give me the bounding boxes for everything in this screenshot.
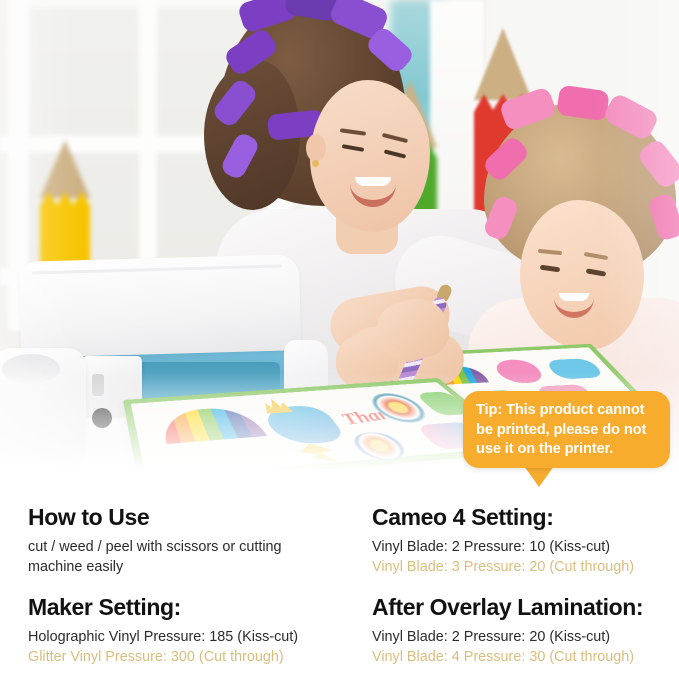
after-lamination-heading: After Overlay Lamination: — [372, 594, 643, 620]
maker-setting-block: Maker Setting: Holographic Vinyl Pressur… — [28, 594, 298, 667]
after-lamination-line-2: Vinyl Blade: 4 Pressure: 30 (Cut through… — [372, 647, 643, 667]
girl-face — [520, 200, 644, 350]
how-to-use-block: How to Use cut / weed / peel with scisso… — [28, 504, 282, 577]
woman-face — [310, 80, 430, 232]
after-lamination-line-1: Vinyl Blade: 2 Pressure: 20 (Kiss-cut) — [372, 627, 643, 647]
tip-callout: Tip: This product cannot be printed, ple… — [463, 391, 670, 468]
maker-setting-heading: Maker Setting: — [28, 594, 298, 620]
how-to-use-line-1: cut / weed / peel with scissors or cutti… — [28, 537, 282, 557]
pencil-tip — [40, 140, 90, 198]
cameo-setting-block: Cameo 4 Setting: Vinyl Blade: 2 Pressure… — [372, 504, 634, 577]
cameo-setting-heading: Cameo 4 Setting: — [372, 504, 634, 530]
cameo-setting-line-1: Vinyl Blade: 2 Pressure: 10 (Kiss-cut) — [372, 537, 634, 557]
maker-setting-line-1: Holographic Vinyl Pressure: 185 (Kiss-cu… — [28, 627, 298, 647]
woman-ear — [306, 134, 326, 162]
tip-bubble-tail — [524, 466, 554, 487]
tip-text: Tip: This product cannot be printed, ple… — [476, 401, 661, 460]
cameo-setting-line-2: Vinyl Blade: 3 Pressure: 20 (Cut through… — [372, 557, 634, 577]
how-to-use-heading: How to Use — [28, 504, 282, 530]
maker-setting-line-2: Glitter Vinyl Pressure: 300 (Cut through… — [28, 647, 298, 667]
how-to-use-line-2: machine easily — [28, 557, 282, 577]
window-pane — [28, 8, 140, 136]
infographic-root: Thanks Tip: This product cannot be print… — [0, 0, 679, 673]
after-lamination-block: After Overlay Lamination: Vinyl Blade: 2… — [372, 594, 643, 667]
woman-earring — [312, 160, 319, 167]
settings-panel: How to Use cut / weed / peel with scisso… — [0, 492, 679, 673]
